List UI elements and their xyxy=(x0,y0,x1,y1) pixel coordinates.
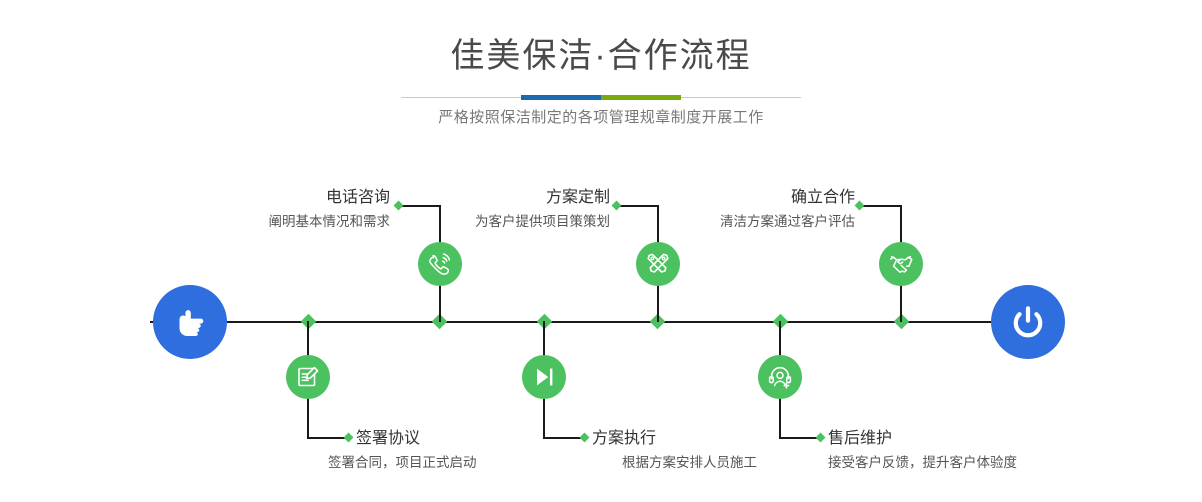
step-label-step-3: 方案定制 xyxy=(395,187,610,209)
divider-segment-blue xyxy=(521,95,601,100)
step-icon-step-2[interactable] xyxy=(286,355,330,399)
divider-segment-green xyxy=(601,95,681,100)
page-title: 佳美保洁·合作流程 xyxy=(0,34,1202,78)
step-icon-step-4[interactable] xyxy=(522,355,566,399)
step-icon-step-5[interactable] xyxy=(758,355,802,399)
title-divider xyxy=(401,95,801,100)
step-desc-step-5: 接受客户反馈，提升客户体验度 xyxy=(828,453,1088,473)
step-icon-step-3[interactable] xyxy=(636,242,680,286)
step-label-step-2: 签署协议 xyxy=(356,428,586,450)
timeline-start-node[interactable] xyxy=(153,285,227,359)
step-label-step-5: 售后维护 xyxy=(828,428,1068,450)
step-icon-step-6[interactable] xyxy=(879,242,923,286)
step-label-step-6: 确立合作 xyxy=(640,187,855,209)
timeline-end-node[interactable] xyxy=(991,285,1065,359)
flowchart-page: 佳美保洁·合作流程 严格按照保洁制定的各项管理规章制度开展工作 xyxy=(0,0,1202,502)
step-desc-step-2: 签署合同，项目正式启动 xyxy=(328,453,588,473)
connector-elbow-step-6 xyxy=(859,205,901,207)
step-label-step-4: 方案执行 xyxy=(592,428,822,450)
page-header: 佳美保洁·合作流程 xyxy=(0,34,1202,78)
timeline-axis xyxy=(150,321,1052,323)
connector-tip-step-3 xyxy=(612,201,622,211)
step-desc-step-3: 为客户提供项目策策划 xyxy=(355,212,610,232)
connector-tip-step-2 xyxy=(344,433,354,443)
connector-tip-step-6 xyxy=(855,201,865,211)
step-desc-step-6: 清洁方案通过客户评估 xyxy=(600,212,855,232)
step-label-step-1: 电话咨询 xyxy=(175,187,390,209)
page-subtitle: 严格按照保洁制定的各项管理规章制度开展工作 xyxy=(0,107,1202,129)
step-desc-step-1: 阐明基本情况和需求 xyxy=(145,212,390,232)
step-icon-step-1[interactable] xyxy=(418,242,462,286)
